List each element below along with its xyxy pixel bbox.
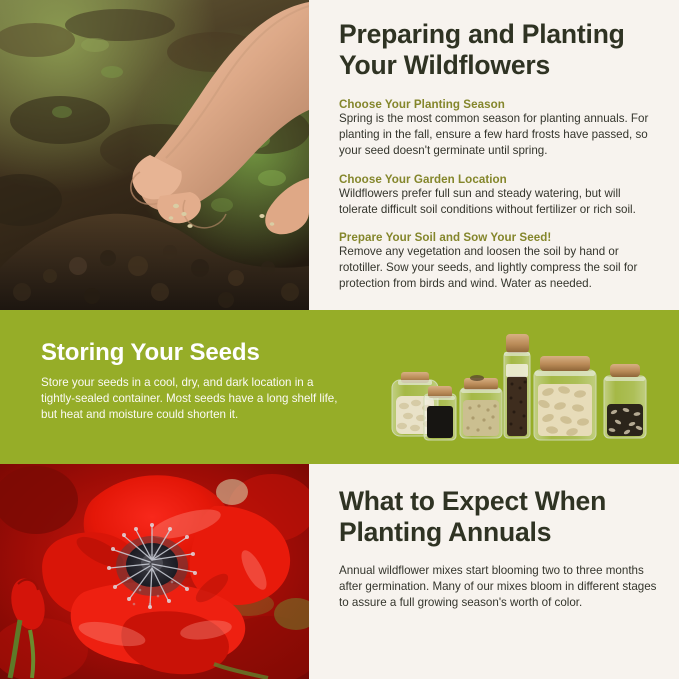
jar-speckled-grain — [460, 375, 502, 438]
section-storing-your-seeds: Storing Your Seeds Store your seeds in a… — [0, 310, 679, 464]
expect-text-column: What to Expect When Planting Annuals Ann… — [339, 464, 661, 679]
topic-heading-location: Choose Your Garden Location — [339, 173, 661, 186]
seed-jars-graphic — [378, 328, 660, 448]
topic-body-soil: Remove any vegetation and loosen the soi… — [339, 244, 661, 293]
jar-black-seeds — [424, 386, 456, 440]
topic-heading-season: Choose Your Planting Season — [339, 98, 661, 111]
planting-title: Preparing and Planting Your Wildflowers — [339, 0, 661, 81]
topic-body-location: Wildflowers prefer full sun and steady w… — [339, 186, 661, 218]
topic-heading-soil: Prepare Your Soil and Sow Your Seed! — [339, 231, 661, 244]
section-preparing-and-planting: Preparing and Planting Your Wildflowers … — [0, 0, 679, 310]
seed-jars-photo — [378, 328, 660, 448]
expect-title: What to Expect When Planting Annuals — [339, 464, 661, 548]
soil-photo-graphic — [0, 0, 309, 310]
expect-body: Annual wildflower mixes start blooming t… — [339, 563, 661, 612]
storing-body: Store your seeds in a cool, dry, and dar… — [41, 375, 341, 424]
section-what-to-expect: What to Expect When Planting Annuals Ann… — [0, 464, 679, 679]
planting-text-column: Preparing and Planting Your Wildflowers … — [339, 0, 661, 310]
infographic-page: Preparing and Planting Your Wildflowers … — [0, 0, 679, 679]
poppy-flower-photo — [0, 464, 309, 679]
poppy-photo-graphic — [0, 464, 309, 679]
topic-garden-location: Choose Your Garden Location Wildflowers … — [339, 173, 661, 218]
soil-planting-photo — [0, 0, 309, 310]
storing-text-column: Storing Your Seeds Store your seeds in a… — [41, 339, 341, 424]
jar-tall-dark-seeds — [504, 334, 530, 438]
topic-prepare-soil: Prepare Your Soil and Sow Your Seed! Rem… — [339, 231, 661, 293]
jar-large-pale-seeds — [534, 356, 596, 440]
storing-title: Storing Your Seeds — [41, 339, 341, 366]
topic-body-season: Spring is the most common season for pla… — [339, 111, 661, 160]
topic-planting-season: Choose Your Planting Season Spring is th… — [339, 98, 661, 160]
